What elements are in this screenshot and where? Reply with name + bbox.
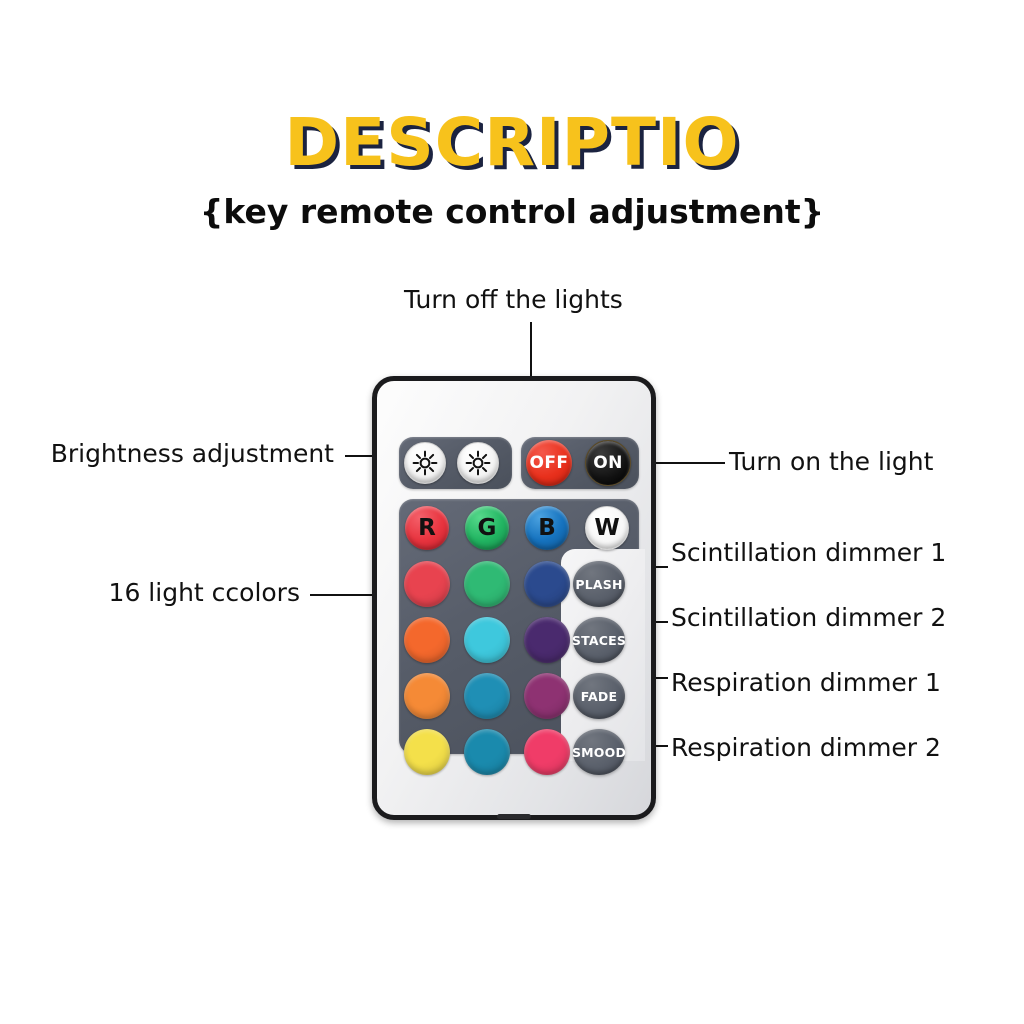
- mode-plash-button[interactable]: PLASH: [573, 561, 625, 607]
- color-swatch[interactable]: [524, 561, 570, 607]
- color-swatch[interactable]: [524, 729, 570, 775]
- color-swatch[interactable]: [524, 617, 570, 663]
- power-on-button[interactable]: ON: [585, 440, 631, 486]
- brightness-up-button[interactable]: [404, 442, 446, 484]
- callout-scintillation-dimmer-2: Scintillation dimmer 2: [671, 603, 946, 632]
- remote-control-body: OFF ON R G B W PLASHSTACESFADESMOOD: [372, 376, 656, 820]
- mode-fade-button[interactable]: FADE: [573, 673, 625, 719]
- mode-smood-button[interactable]: SMOOD: [573, 729, 625, 775]
- page-title: DESCRIPTIO: [0, 104, 1024, 181]
- callout-respiration-dimmer-2: Respiration dimmer 2: [671, 733, 941, 762]
- color-green-button[interactable]: G: [465, 506, 509, 550]
- callout-brightness-adjustment: Brightness adjustment: [51, 439, 334, 468]
- remote-bottom-notch: [497, 814, 531, 819]
- color-swatch[interactable]: [404, 561, 450, 607]
- callout-16-light-colors: 16 light ccolors: [109, 578, 300, 607]
- color-swatch[interactable]: [524, 673, 570, 719]
- color-swatch[interactable]: [464, 729, 510, 775]
- color-swatch[interactable]: [464, 561, 510, 607]
- color-red-button[interactable]: R: [405, 506, 449, 550]
- color-blue-button[interactable]: B: [525, 506, 569, 550]
- color-swatch[interactable]: [404, 673, 450, 719]
- color-swatch[interactable]: [464, 673, 510, 719]
- color-swatch[interactable]: [464, 617, 510, 663]
- power-off-button[interactable]: OFF: [526, 440, 572, 486]
- brightness-down-button[interactable]: [457, 442, 499, 484]
- callout-scintillation-dimmer-1: Scintillation dimmer 1: [671, 538, 946, 567]
- color-white-button[interactable]: W: [585, 506, 629, 550]
- page-subtitle: {key remote control adjustment}: [0, 192, 1024, 231]
- sun-icon: [412, 450, 438, 476]
- mode-staces-button[interactable]: STACES: [573, 617, 625, 663]
- callout-turn-on-the-light: Turn on the light: [729, 447, 933, 476]
- callout-turn-off-the-lights: Turn off the lights: [404, 285, 623, 314]
- description-infographic: DESCRIPTIO {key remote control adjustmen…: [0, 0, 1024, 1024]
- color-swatch[interactable]: [404, 617, 450, 663]
- sun-icon: [465, 450, 491, 476]
- color-swatch[interactable]: [404, 729, 450, 775]
- callout-respiration-dimmer-1: Respiration dimmer 1: [671, 668, 941, 697]
